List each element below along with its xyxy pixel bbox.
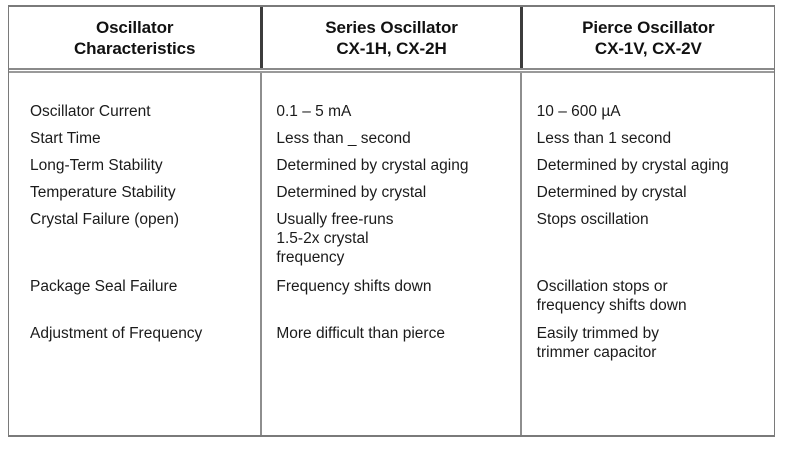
cell-characteristic-6: Adjustment of Frequency (30, 324, 260, 343)
column-pierce-oscillator: 10 – 600 µA Less than 1 second Determine… (520, 73, 774, 435)
column-header-series-oscillator-line2: CX-1H, CX-2H (336, 38, 446, 59)
cell-pierce-4: Stops oscillation (537, 210, 774, 229)
cell-characteristic-0: Oscillator Current (30, 102, 260, 121)
column-header-characteristics-line1: Oscillator (96, 17, 173, 38)
cell-pierce-5: Oscillation stops or frequency shifts do… (537, 277, 774, 315)
cell-pierce-2: Determined by crystal aging (537, 156, 774, 175)
cell-pierce-3: Determined by crystal (537, 183, 774, 202)
cell-series-5: Frequency shifts down (276, 277, 519, 296)
cell-pierce-6: Easily trimmed by trimmer capacitor (537, 324, 774, 362)
column-header-series-oscillator: Series Oscillator CX-1H, CX-2H (260, 7, 519, 68)
cell-series-0: 0.1 – 5 mA (276, 102, 519, 121)
cell-characteristic-2: Long-Term Stability (30, 156, 260, 175)
page-root: Oscillator Characteristics Series Oscill… (0, 0, 786, 450)
column-header-series-oscillator-line1: Series Oscillator (325, 17, 457, 38)
cell-series-3: Determined by crystal (276, 183, 519, 202)
cell-characteristic-5: Package Seal Failure (30, 277, 260, 296)
table-header-row: Oscillator Characteristics Series Oscill… (9, 7, 774, 68)
comparison-table: Oscillator Characteristics Series Oscill… (8, 5, 775, 437)
cell-series-6: More difficult than pierce (276, 324, 519, 343)
cell-characteristic-1: Start Time (30, 129, 260, 148)
column-series-oscillator: 0.1 – 5 mA Less than _ second Determined… (260, 73, 519, 435)
cell-pierce-1: Less than 1 second (537, 129, 774, 148)
cell-characteristic-3: Temperature Stability (30, 183, 260, 202)
column-header-pierce-oscillator: Pierce Oscillator CX-1V, CX-2V (520, 7, 774, 68)
cell-characteristic-4: Crystal Failure (open) (30, 210, 260, 229)
column-header-pierce-oscillator-line1: Pierce Oscillator (582, 17, 714, 38)
column-characteristics: Oscillator Current Start Time Long-Term … (9, 73, 260, 435)
cell-series-4: Usually free-runs 1.5-2x crystal frequen… (276, 210, 519, 267)
cell-series-1: Less than _ second (276, 129, 519, 148)
cell-series-2: Determined by crystal aging (276, 156, 519, 175)
column-header-pierce-oscillator-line2: CX-1V, CX-2V (595, 38, 702, 59)
column-header-characteristics-line2: Characteristics (74, 38, 195, 59)
cell-pierce-0: 10 – 600 µA (537, 102, 774, 121)
column-header-characteristics: Oscillator Characteristics (9, 7, 260, 68)
table-body: Oscillator Current Start Time Long-Term … (9, 73, 774, 435)
